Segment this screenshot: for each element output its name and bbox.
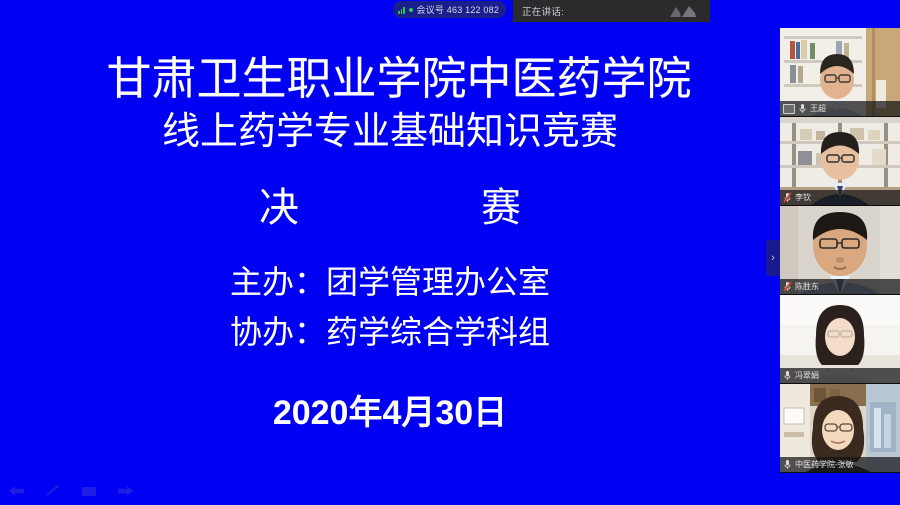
participant-video-strip: › [780,28,900,473]
meeting-screenshare-window: 甘肃卫生职业学院中医药学院 线上药学专业基础知识竞赛 决 赛 主办：团学管理办公… [0,0,900,505]
slide-date: 2020年4月30日 [0,385,780,434]
participant-name-bar: 冯翠娟 [780,368,900,383]
slide-stage-label: 决 赛 [34,175,780,233]
microphone-icon [783,459,792,470]
microphone-muted-icon [783,192,792,203]
participant-name: 中医药学院-张敏 [795,459,854,470]
slide-organizer: 主办：团学管理办公室 [0,259,780,305]
slideshow-toolbar [8,483,134,499]
microphone-icon [783,370,792,381]
participant-name: 王超 [810,103,826,114]
sound-wave-icon [668,4,700,18]
participant-name-bar: 李钦 [780,190,900,205]
next-slide-icon[interactable] [116,483,134,499]
video-strip-footer-fill [780,473,900,505]
participant-name: 冯翠娟 [795,370,819,381]
microphone-icon [798,103,807,114]
collapse-video-strip-button[interactable]: › [766,240,780,276]
meeting-id-label: 会议号 463 122 082 [417,3,500,16]
participant-tile[interactable]: 中医药学院-张敏 [780,384,900,473]
participant-name: 李钦 [795,192,811,203]
signal-bars-icon [398,6,405,14]
pen-tool-icon[interactable] [44,483,62,499]
slide-co-organizer: 协办：药学综合学科组 [0,309,780,355]
previous-slide-icon[interactable] [8,483,26,499]
slide-title: 甘肃卫生职业学院中医药学院 [0,52,780,105]
meeting-id-badge[interactable]: 会议号 463 122 082 [393,1,506,18]
participant-tile[interactable]: 陈胜东 [780,206,900,295]
microphone-muted-icon [783,281,792,292]
participant-name-bar: 王超 [780,101,900,116]
active-speaker-bar: 正在讲话: [513,0,710,22]
participant-name-bar: 中医药学院-张敏 [780,457,900,472]
active-speaker-label: 正在讲话: [522,4,564,18]
slide-subtitle: 线上药学专业基础知识竞赛 [0,109,780,155]
slide-menu-icon[interactable] [80,483,98,499]
connection-status-dot [409,8,413,12]
participant-name-bar: 陈胜东 [780,279,900,294]
screen-share-icon [783,104,795,114]
participant-tile[interactable]: 王超 [780,28,900,117]
participant-tile[interactable]: 冯翠娟 [780,295,900,384]
participant-name: 陈胜东 [795,281,819,292]
participant-tile[interactable]: 李钦 [780,117,900,206]
slide-text-block: 甘肃卫生职业学院中医药学院 线上药学专业基础知识竞赛 决 赛 主办：团学管理办公… [0,52,780,434]
presentation-slide: 甘肃卫生职业学院中医药学院 线上药学专业基础知识竞赛 决 赛 主办：团学管理办公… [0,0,900,505]
chevron-right-icon: › [771,253,775,264]
